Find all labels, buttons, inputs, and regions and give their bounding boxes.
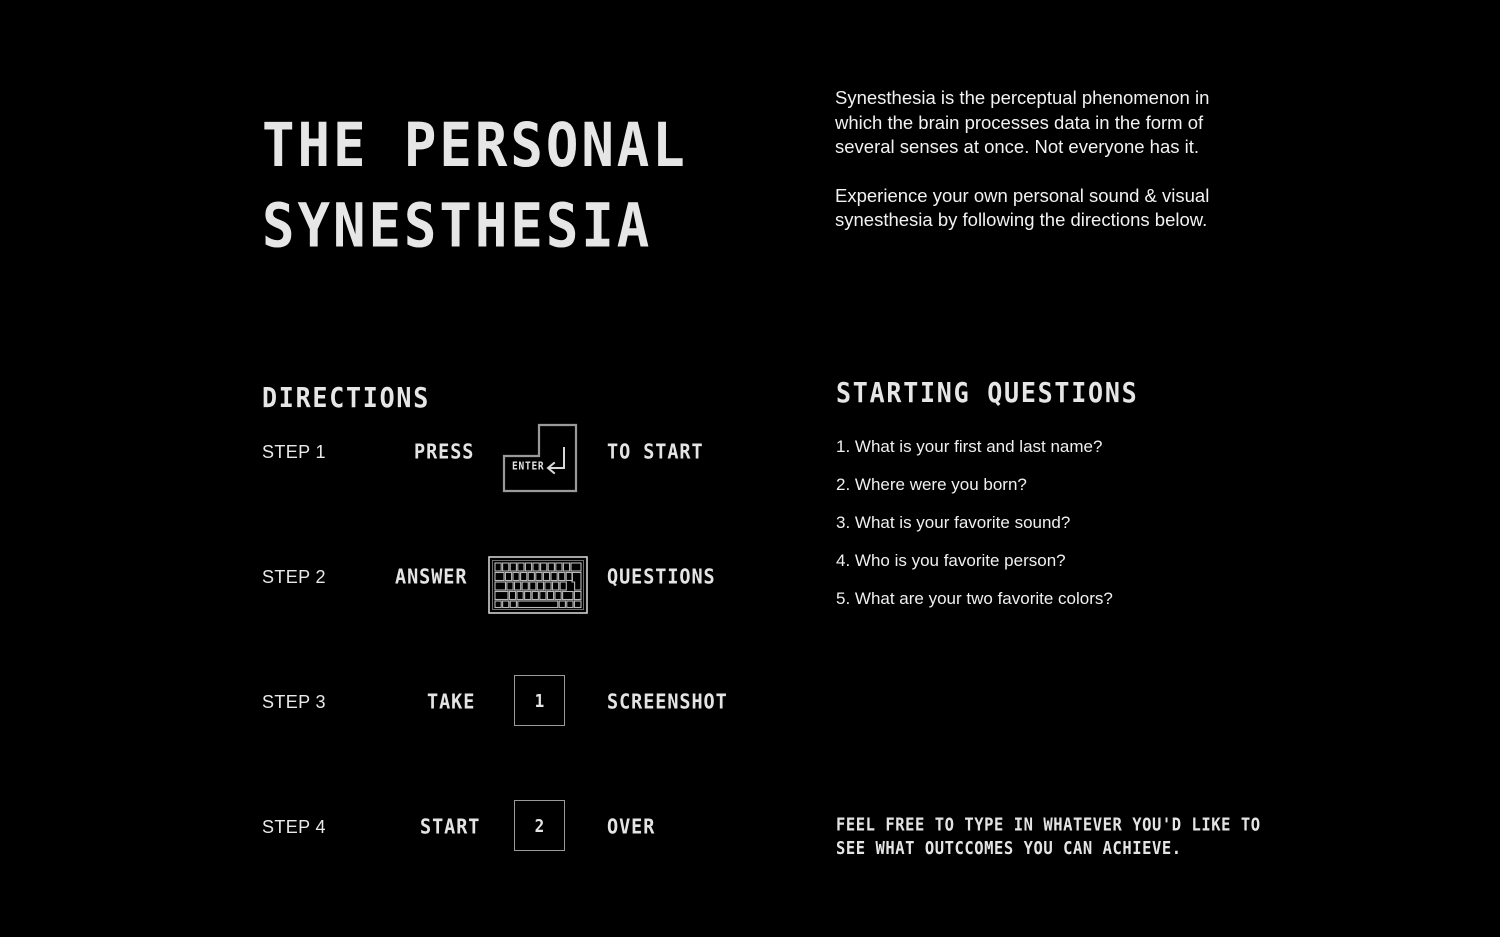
footer-note-line-2: SEE WHAT OUTCCOMES YOU CAN ACHIEVE. [836,837,1256,861]
poster-root: { "meta": { "background_color": "#000000… [0,0,1500,937]
intro-paragraph-1: Synesthesia is the perceptual phenomenon… [835,86,1235,160]
step-2-verb: ANSWER [395,566,467,590]
starting-questions-list: 1. What is your first and last name? 2. … [836,436,1236,626]
step-4-label: STEP 4 [262,817,326,838]
page-title-line-1: THE PERSONAL [262,106,862,187]
directions-heading: DIRECTIONS [262,381,430,413]
keyboard-icon[interactable] [488,556,588,614]
step-4-object: OVER [607,816,655,840]
step-3-object: SCREENSHOT [607,691,728,715]
step-1-verb: PRESS [414,441,474,465]
step-3-label: STEP 3 [262,692,326,713]
starting-questions-heading: STARTING QUESTIONS [836,376,1138,408]
step-4-verb: START [420,816,480,840]
step-2-label: STEP 2 [262,567,326,588]
step-1-object: TO START [607,441,704,465]
step-row-4: STEP 4 START 2 OVER [262,803,782,928]
step-row-1: STEP 1 PRESS ENTER TO START [262,428,782,553]
footer-note-line-1: FEEL FREE TO TYPE IN WHATEVER YOU'D LIKE… [836,813,1256,837]
intro-paragraph-2: Experience your own personal sound & vis… [835,184,1235,233]
step-row-3: STEP 3 TAKE 1 SCREENSHOT [262,678,782,803]
enter-key-icon[interactable]: ENTER [502,423,578,493]
question-item: 3. What is your favorite sound? [836,512,1236,534]
enter-key-label: ENTER [512,460,544,472]
step-1-label: STEP 1 [262,442,326,463]
step-row-2: STEP 2 ANSWER [262,553,782,678]
directions-steps: STEP 1 PRESS ENTER TO START STEP 2 ANSWE… [262,428,782,928]
page-title-line-2: SYNESTHESIA [262,186,862,267]
question-item: 4. Who is you favorite person? [836,550,1236,572]
intro-text: Synesthesia is the perceptual phenomenon… [835,86,1235,233]
number-box-2-value: 2 [515,815,564,836]
question-item: 2. Where were you born? [836,474,1236,496]
question-item: 5. What are your two favorite colors? [836,588,1236,610]
step-3-verb: TAKE [427,691,475,715]
page-title: THE PERSONAL SYNESTHESIA [262,106,862,267]
step-2-object: QUESTIONS [607,566,716,590]
question-item: 1. What is your first and last name? [836,436,1236,458]
footer-note: FEEL FREE TO TYPE IN WHATEVER YOU'D LIKE… [836,813,1256,860]
number-box-1[interactable]: 1 [514,675,565,726]
number-box-2[interactable]: 2 [514,800,565,851]
number-box-1-value: 1 [515,690,564,711]
